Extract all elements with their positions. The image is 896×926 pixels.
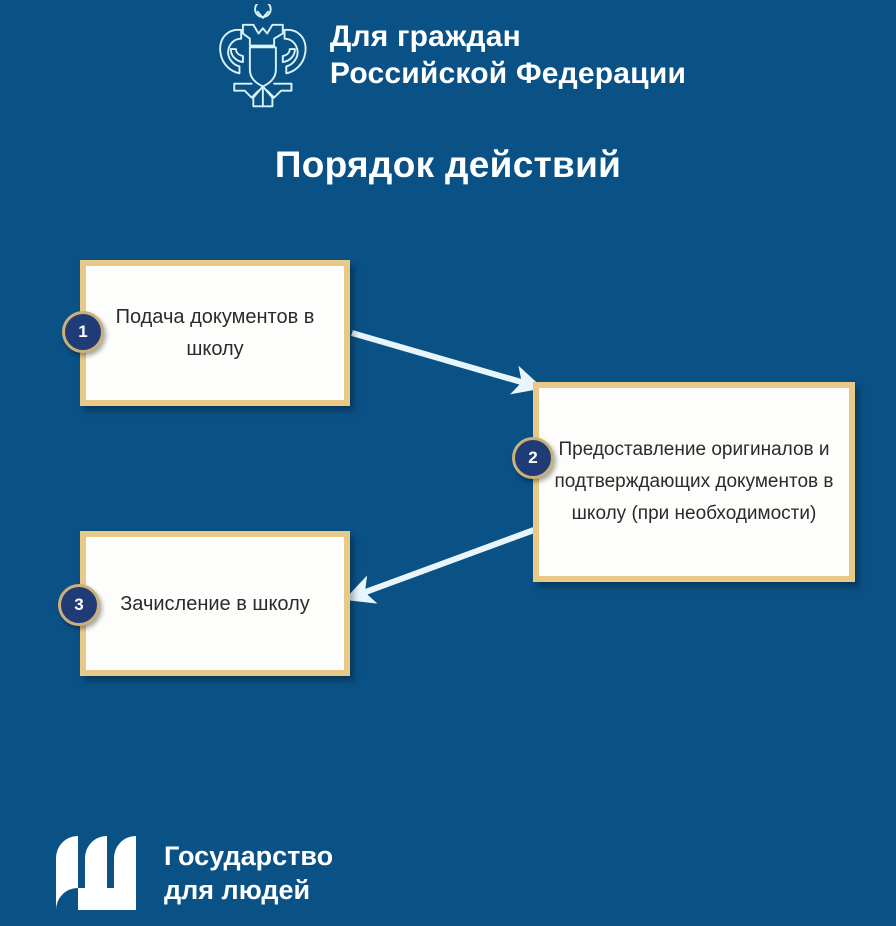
footer-slogan-line-2: для людей	[164, 873, 333, 907]
flow-step-1-label: Подача документов в школу	[86, 301, 344, 366]
flow-step-1-badge: 1	[62, 311, 104, 353]
slide-canvas: Для граждан Российской Федерации Порядок…	[0, 0, 896, 926]
flow-step-2-badge: 2	[512, 437, 554, 479]
flow-step-3-badge: 3	[58, 584, 100, 626]
flow-step-2-label: Предоставление оригиналов и подтверждающ…	[539, 434, 849, 530]
process-flow-diagram: Подача документов в школу 1 Предоставлен…	[0, 0, 896, 926]
arrow-step1-to-step2	[352, 333, 535, 386]
gosuslugi-three-waves-logo	[56, 836, 142, 910]
footer-slogan: Государство для людей	[164, 839, 333, 907]
flow-step-2-box[interactable]: Предоставление оригиналов и подтверждающ…	[533, 382, 855, 582]
arrow-step2-to-step3	[352, 530, 534, 597]
flow-step-1-box[interactable]: Подача документов в школу	[80, 260, 350, 406]
flow-step-3-box[interactable]: Зачисление в школу	[80, 531, 350, 676]
footer-slogan-line-1: Государство	[164, 839, 333, 873]
footer-branding: Государство для людей	[56, 836, 333, 910]
flow-step-3-label: Зачисление в школу	[106, 586, 324, 622]
